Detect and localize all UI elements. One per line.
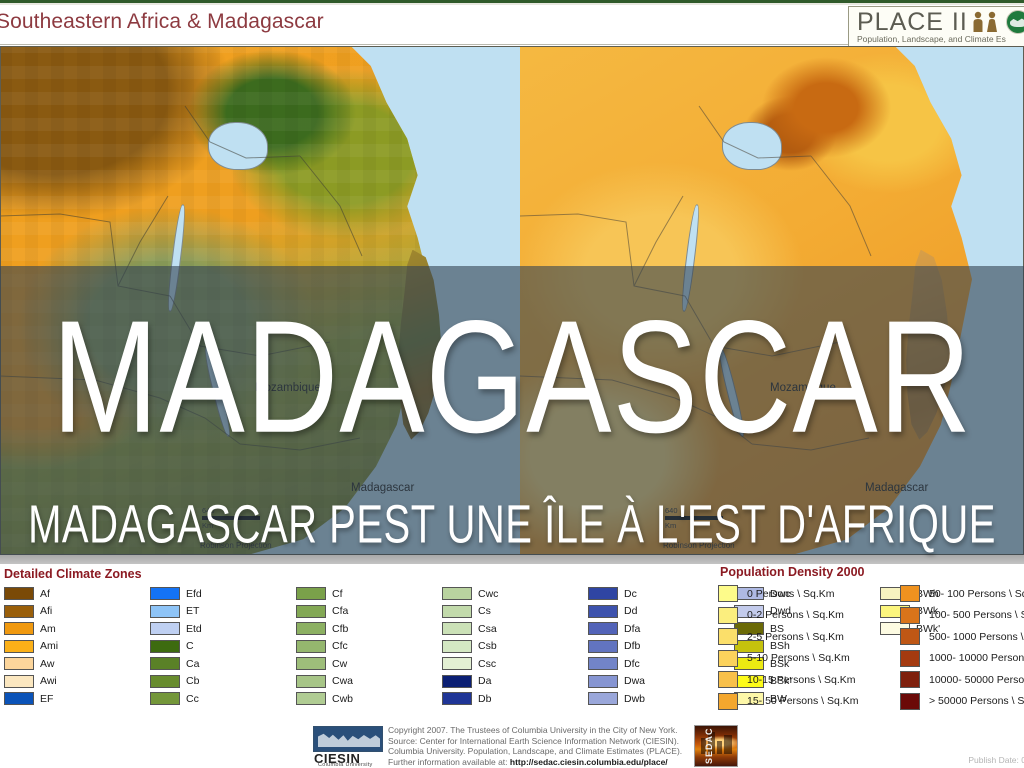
- climate-swatch: [442, 622, 472, 635]
- footer: CIESIN Columbia University Copyright 200…: [0, 713, 1024, 768]
- climate-swatch: [4, 657, 34, 670]
- climate-code-label: Ami: [40, 640, 58, 652]
- population-legend-item: 10-15 Persons \ Sq.Km: [718, 671, 856, 688]
- climate-legend-item: Cb: [150, 675, 199, 688]
- climate-legend-item: Db: [442, 692, 491, 705]
- climate-swatch: [4, 587, 34, 600]
- climate-code-label: Dc: [624, 588, 637, 600]
- climate-legend-item: Dfa: [588, 622, 640, 635]
- climate-legend-item: Af: [4, 587, 50, 600]
- population-swatch: [718, 628, 738, 645]
- place-logo-title: PLACE II: [857, 8, 968, 37]
- copyright-line-4: Further information available at: http:/…: [388, 757, 682, 768]
- population-swatch: [900, 693, 920, 710]
- climate-legend-item: Dwb: [588, 692, 645, 705]
- climate-legend-item: Awi: [4, 675, 57, 688]
- climate-swatch: [296, 692, 326, 705]
- climate-legend-item: Am: [4, 622, 56, 635]
- copyright-line-1: Copyright 2007. The Trustees of Columbia…: [388, 725, 682, 736]
- population-legend-item: 500- 1000 Persons \ Sq.Km: [900, 628, 1024, 645]
- climate-legend-item: Csc: [442, 657, 496, 670]
- climate-legend-item: Dfc: [588, 657, 640, 670]
- population-range-label: 50- 100 Persons \ Sq.Km: [929, 588, 1024, 600]
- climate-legend-item: Cfb: [296, 622, 348, 635]
- climate-code-label: Etd: [186, 623, 202, 635]
- population-swatch: [718, 585, 738, 602]
- climate-code-label: EF: [40, 693, 53, 705]
- population-range-label: 0 Persons \ Sq.Km: [747, 588, 835, 600]
- climate-code-label: Cs: [478, 605, 491, 617]
- climate-swatch: [4, 692, 34, 705]
- climate-swatch: [296, 605, 326, 618]
- climate-swatch: [296, 622, 326, 635]
- climate-swatch: [4, 675, 34, 688]
- climate-swatch: [588, 675, 618, 688]
- climate-code-label: ET: [186, 605, 199, 617]
- climate-swatch: [442, 640, 472, 653]
- climate-code-label: Cc: [186, 693, 199, 705]
- population-legend-item: 0-2 Persons \ Sq.Km: [718, 607, 844, 624]
- climate-legend-item: Da: [442, 675, 491, 688]
- population-legend-item: 2-5 Persons \ Sq.Km: [718, 628, 844, 645]
- climate-legend-item: Cfa: [296, 605, 348, 618]
- climate-legend-item: Ami: [4, 640, 58, 653]
- climate-legend-item: Aw: [4, 657, 54, 670]
- population-swatch: [900, 628, 920, 645]
- climate-swatch: [296, 640, 326, 653]
- copyright-line-3: Columbia University. Population, Landsca…: [388, 746, 682, 757]
- climate-code-label: Cb: [186, 675, 199, 687]
- population-range-label: 0-2 Persons \ Sq.Km: [747, 609, 844, 621]
- climate-legend-item: Ca: [150, 657, 199, 670]
- population-range-label: > 50000 Persons \ Sq.Km: [929, 695, 1024, 707]
- population-legend-item: 1000- 10000 Persons \ Sq.Km: [900, 650, 1024, 667]
- climate-swatch: [442, 675, 472, 688]
- climate-code-label: Am: [40, 623, 56, 635]
- climate-code-label: Awi: [40, 675, 57, 687]
- climate-legend-item: ET: [150, 605, 199, 618]
- population-range-label: 500- 1000 Persons \ Sq.Km: [929, 631, 1024, 643]
- climate-legend-item: C: [150, 640, 194, 653]
- climate-code-label: Efd: [186, 588, 202, 600]
- climate-legend-item: Efd: [150, 587, 202, 600]
- copyright-block: Copyright 2007. The Trustees of Columbia…: [388, 725, 682, 767]
- legend-strip: Detailed Climate Zones AfAfiAmAmiAwAwiEF…: [0, 555, 1024, 713]
- population-range-label: 100- 500 Persons \ Sq.Km: [929, 609, 1024, 621]
- climate-legend-item: Cw: [296, 657, 347, 670]
- climate-swatch: [150, 605, 180, 618]
- population-swatch: [718, 693, 738, 710]
- climate-legend-item: Cc: [150, 692, 199, 705]
- climate-legend-item: Dc: [588, 587, 637, 600]
- climate-swatch: [588, 605, 618, 618]
- climate-legend-item: Cf: [296, 587, 343, 600]
- climate-code-label: C: [186, 640, 194, 652]
- climate-code-label: Cw: [332, 658, 347, 670]
- population-legend-item: 50- 100 Persons \ Sq.Km: [900, 585, 1024, 602]
- population-range-label: 1000- 10000 Persons \ Sq.Km: [929, 652, 1024, 664]
- population-legend-item: 100- 500 Persons \ Sq.Km: [900, 607, 1024, 624]
- climate-legend-item: Dfb: [588, 640, 640, 653]
- climate-swatch: [150, 675, 180, 688]
- climate-legend-item: Etd: [150, 622, 202, 635]
- population-swatch: [900, 585, 920, 602]
- climate-code-label: Csa: [478, 623, 497, 635]
- legend-divider: [0, 555, 1024, 564]
- climate-code-label: Cf: [332, 588, 343, 600]
- population-range-label: 2-5 Persons \ Sq.Km: [747, 631, 844, 643]
- header-bar: Southeastern Africa & Madagascar PLACE I…: [0, 5, 1024, 45]
- climate-code-label: Dd: [624, 605, 637, 617]
- climate-swatch: [442, 657, 472, 670]
- climate-swatch: [442, 692, 472, 705]
- population-swatch: [718, 671, 738, 688]
- climate-code-label: Cfb: [332, 623, 348, 635]
- climate-swatch: [588, 587, 618, 600]
- place-url-link[interactable]: http://sedac.ciesin.columbia.edu/place/: [510, 757, 668, 767]
- climate-swatch: [442, 587, 472, 600]
- climate-code-label: Af: [40, 588, 50, 600]
- climate-legend-item: Cs: [442, 605, 491, 618]
- climate-swatch: [296, 675, 326, 688]
- population-swatch: [718, 650, 738, 667]
- climate-code-label: Ca: [186, 658, 199, 670]
- population-range-label: 10000- 50000 Persons \ Sq.Km: [929, 674, 1024, 686]
- people-icon: [969, 11, 1003, 33]
- climate-legend-item: Cwa: [296, 675, 353, 688]
- climate-code-label: Afi: [40, 605, 52, 617]
- climate-swatch: [150, 622, 180, 635]
- climate-swatch: [296, 587, 326, 600]
- climate-code-label: Cfa: [332, 605, 348, 617]
- population-swatch: [900, 607, 920, 624]
- population-range-label: 5-10 Persons \ Sq.Km: [747, 652, 850, 664]
- population-legend-item: > 50000 Persons \ Sq.Km: [900, 693, 1024, 710]
- further-info-label: Further information available at:: [388, 757, 508, 767]
- slide-root: Southeastern Africa & Madagascar PLACE I…: [0, 0, 1024, 768]
- climate-swatch: [442, 605, 472, 618]
- climate-swatch: [4, 605, 34, 618]
- climate-swatch: [150, 657, 180, 670]
- page-title: Southeastern Africa & Madagascar: [0, 10, 324, 34]
- population-legend-item: 5-10 Persons \ Sq.Km: [718, 650, 850, 667]
- population-range-label: 10-15 Persons \ Sq.Km: [747, 674, 856, 686]
- climate-legend-item: Csa: [442, 622, 497, 635]
- sedac-skyline-4: [724, 735, 732, 754]
- population-swatch: [900, 671, 920, 688]
- climate-swatch: [4, 640, 34, 653]
- climate-swatch: [150, 587, 180, 600]
- climate-swatch: [4, 622, 34, 635]
- climate-code-label: Cfc: [332, 640, 348, 652]
- climate-swatch: [588, 692, 618, 705]
- climate-legend-item: EF: [4, 692, 53, 705]
- population-legend-heading: Population Density 2000: [720, 565, 864, 579]
- population-legend-item: 15- 50 Persons \ Sq.Km: [718, 693, 858, 710]
- sedac-logo-word: SEDAC: [704, 725, 714, 764]
- climate-legend-item: Afi: [4, 605, 52, 618]
- climate-swatch: [150, 640, 180, 653]
- climate-legend-item: Csb: [442, 640, 497, 653]
- climate-code-label: Csc: [478, 658, 496, 670]
- climate-code-label: Dwa: [624, 675, 645, 687]
- population-swatch: [900, 650, 920, 667]
- population-swatch: [718, 607, 738, 624]
- climate-code-label: Dwb: [624, 693, 645, 705]
- population-range-label: 15- 50 Persons \ Sq.Km: [747, 695, 858, 707]
- climate-swatch: [588, 640, 618, 653]
- climate-legend-item: Cfc: [296, 640, 348, 653]
- ciesin-logo: CIESIN Columbia University: [312, 726, 384, 766]
- sedac-skyline-3: [717, 741, 722, 754]
- place-logo-tagline: Population, Landscape, and Climate Es: [857, 34, 1006, 44]
- climate-code-label: Db: [478, 693, 491, 705]
- climate-swatch: [296, 657, 326, 670]
- hero-subtitle: MADAGASCAR PEST UNE ÎLE À L'EST D'AFRIQU…: [0, 498, 1024, 552]
- climate-code-label: Cwc: [478, 588, 498, 600]
- globe-icon: [1006, 10, 1024, 34]
- sedac-logo: SEDAC: [694, 725, 738, 767]
- climate-legend-heading: Detailed Climate Zones: [4, 567, 142, 581]
- climate-legend-item: Dd: [588, 605, 637, 618]
- climate-legend-item: Cwc: [442, 587, 498, 600]
- climate-code-label: Dfc: [624, 658, 640, 670]
- population-legend-item: 0 Persons \ Sq.Km: [718, 585, 835, 602]
- publish-date: Publish Date: 0: [968, 755, 1024, 765]
- climate-code-label: Aw: [40, 658, 54, 670]
- climate-code-label: Dfa: [624, 623, 640, 635]
- climate-code-label: Da: [478, 675, 491, 687]
- population-legend-item: 10000- 50000 Persons \ Sq.Km: [900, 671, 1024, 688]
- climate-code-label: Dfb: [624, 640, 640, 652]
- place-ii-logo: PLACE II Population, Landscape, and Clim…: [848, 6, 1024, 48]
- climate-code-label: Csb: [478, 640, 497, 652]
- climate-swatch: [150, 692, 180, 705]
- copyright-line-2: Source: Center for International Earth S…: [388, 736, 682, 747]
- climate-swatch: [588, 657, 618, 670]
- climate-swatch: [588, 622, 618, 635]
- ciesin-logo-sub: Columbia University: [318, 762, 373, 768]
- climate-code-label: Cwb: [332, 693, 353, 705]
- climate-code-label: Cwa: [332, 675, 353, 687]
- climate-legend-item: Cwb: [296, 692, 353, 705]
- ciesin-world-map-icon: [313, 726, 383, 752]
- climate-legend-item: Dwa: [588, 675, 645, 688]
- hero-title: MADAGASCAR: [0, 298, 1024, 458]
